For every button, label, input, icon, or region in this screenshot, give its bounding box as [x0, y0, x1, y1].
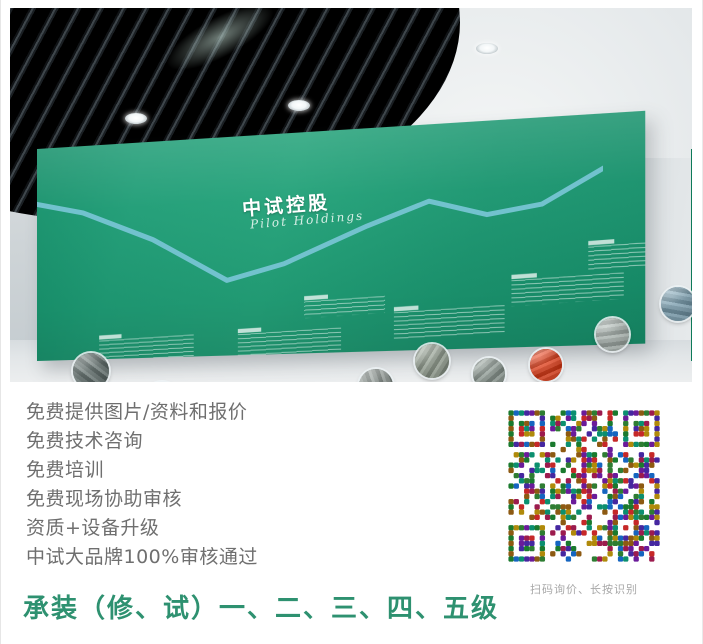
ceiling-downlight	[476, 43, 498, 54]
timeline-photo-thumb	[661, 287, 692, 321]
service-benefits-list: 免费提供图片/资料和报价免费技术咨询免费培训免费现场协助审核资质+设备升级中试大…	[26, 398, 446, 572]
wall-caption-block	[588, 239, 645, 270]
company-culture-wall-photo: 中试控股 Pilot Holdings	[10, 8, 692, 382]
qualification-grades-heading: 承装（修、试）一、二、三、四、五级	[23, 588, 499, 625]
wall-caption-block	[394, 305, 505, 340]
wall-caption-year	[238, 328, 261, 334]
timeline-photo-thumb	[359, 369, 393, 382]
timeline-photo-node	[415, 344, 449, 378]
benefit-line: 中试大品牌100%审核通过	[26, 543, 446, 572]
timeline-photo-thumb	[596, 318, 629, 351]
ceiling-downlight	[288, 100, 310, 111]
qr-code-image[interactable]	[498, 400, 670, 572]
timeline-photo-node	[661, 287, 692, 321]
promo-page: 中试控股 Pilot Holdings 免费提供图片/资料和报价免费技术咨询免费…	[0, 0, 703, 644]
timeline-photo-node	[596, 318, 629, 351]
timeline-photo-thumb	[530, 349, 562, 381]
wall-caption-year	[511, 273, 536, 279]
wall-caption-year	[394, 305, 419, 311]
wall-caption-year	[99, 334, 121, 340]
timeline-photo-node	[359, 369, 393, 382]
timeline-photo-thumb	[473, 358, 505, 382]
wall-side-edge	[691, 149, 692, 361]
wall-caption-block	[304, 296, 385, 318]
benefit-line: 免费培训	[26, 456, 446, 485]
timeline-photo-node	[530, 349, 562, 381]
wall-caption-block	[511, 272, 623, 306]
benefit-line: 免费提供图片/资料和报价	[26, 398, 446, 427]
benefit-line: 免费现场协助审核	[26, 485, 446, 514]
timeline-photo-thumb	[73, 353, 109, 382]
timeline-photo-node	[473, 358, 505, 382]
timeline-photo-thumb	[415, 344, 449, 378]
wall-gloss	[37, 111, 645, 361]
benefit-line: 资质+设备升级	[26, 514, 446, 543]
qr-caption: 扫码询价、长按识别	[494, 581, 674, 597]
wall-caption-year	[304, 295, 328, 301]
timeline-photo-node	[73, 353, 109, 382]
benefit-line: 免费技术咨询	[26, 427, 446, 456]
wall-caption-year	[588, 239, 614, 245]
contact-qr-block: 扫码询价、长按识别	[494, 400, 674, 597]
ceiling-downlight	[125, 113, 147, 124]
green-timeline-wall	[37, 111, 645, 361]
